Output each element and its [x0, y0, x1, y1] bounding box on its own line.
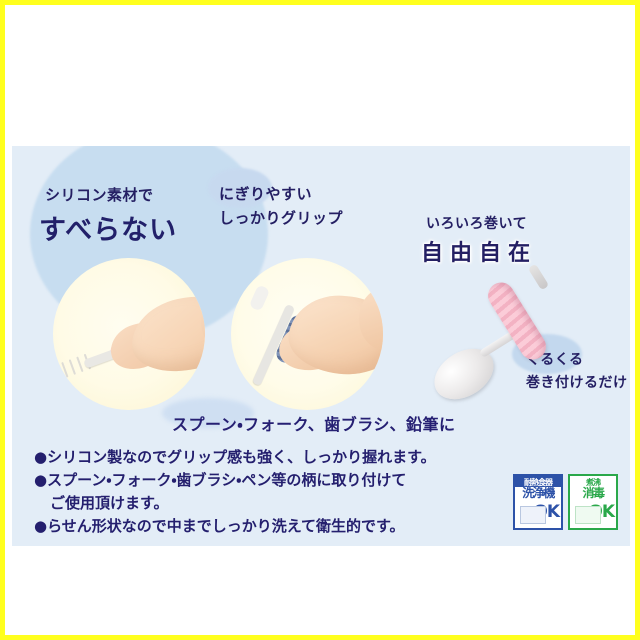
photo-hand-holding-fork [53, 258, 205, 410]
boiling-pot-pictogram-icon [575, 506, 601, 524]
feature2-line1: にぎりやすい [219, 183, 312, 204]
product-spoon-with-coiled-grip [416, 256, 626, 416]
badge-dishwasher-mid-text: 洗浄機 [515, 487, 561, 500]
feature3-subtitle: いろいろ巻いて [426, 213, 527, 233]
toothbrush-head [249, 284, 271, 311]
badge-dishwasher-safe: 耐熱食器 洗浄機 OK [513, 474, 563, 530]
dishwasher-pictogram-icon [520, 506, 546, 524]
feature-bullet-list: ●シリコン製なのでグリップ感も強く、しっかり握れます。 ●スプーン・フォーク・歯… [34, 446, 504, 538]
feature-panel: シリコン素材で すべらない にぎりやすい しっかりグリップ いろいろ巻いて 自由… [12, 146, 630, 546]
product-info-card: シリコン素材で すべらない にぎりやすい しっかりグリップ いろいろ巻いて 自由… [0, 0, 640, 640]
feature2-line2: しっかりグリップ [219, 207, 343, 228]
photo-hand-holding-toothbrush [231, 258, 383, 410]
list-item: ●シリコン製なのでグリップ感も強く、しっかり握れます。 [34, 446, 504, 469]
list-item: ●スプーン・フォーク・歯ブラシ・ペン等の柄に取り付けて [34, 469, 504, 492]
spoon-handle-tip [528, 264, 549, 291]
feature1-title: すべらない [39, 208, 177, 247]
list-item: ●らせん形状なので中までしっかり洗えて衛生的です。 [34, 515, 504, 538]
list-item-continuation: ご使用頂けます。 [34, 492, 504, 515]
feature1-subtitle: シリコン素材で [45, 184, 154, 205]
badge-boiling-sterilization: 煮沸 消毒 OK [568, 474, 618, 530]
badge-boiling-mid-text: 消毒 [570, 487, 616, 500]
usage-caption: スプーン・フォーク、歯ブラシ、鉛筆に [172, 411, 456, 435]
